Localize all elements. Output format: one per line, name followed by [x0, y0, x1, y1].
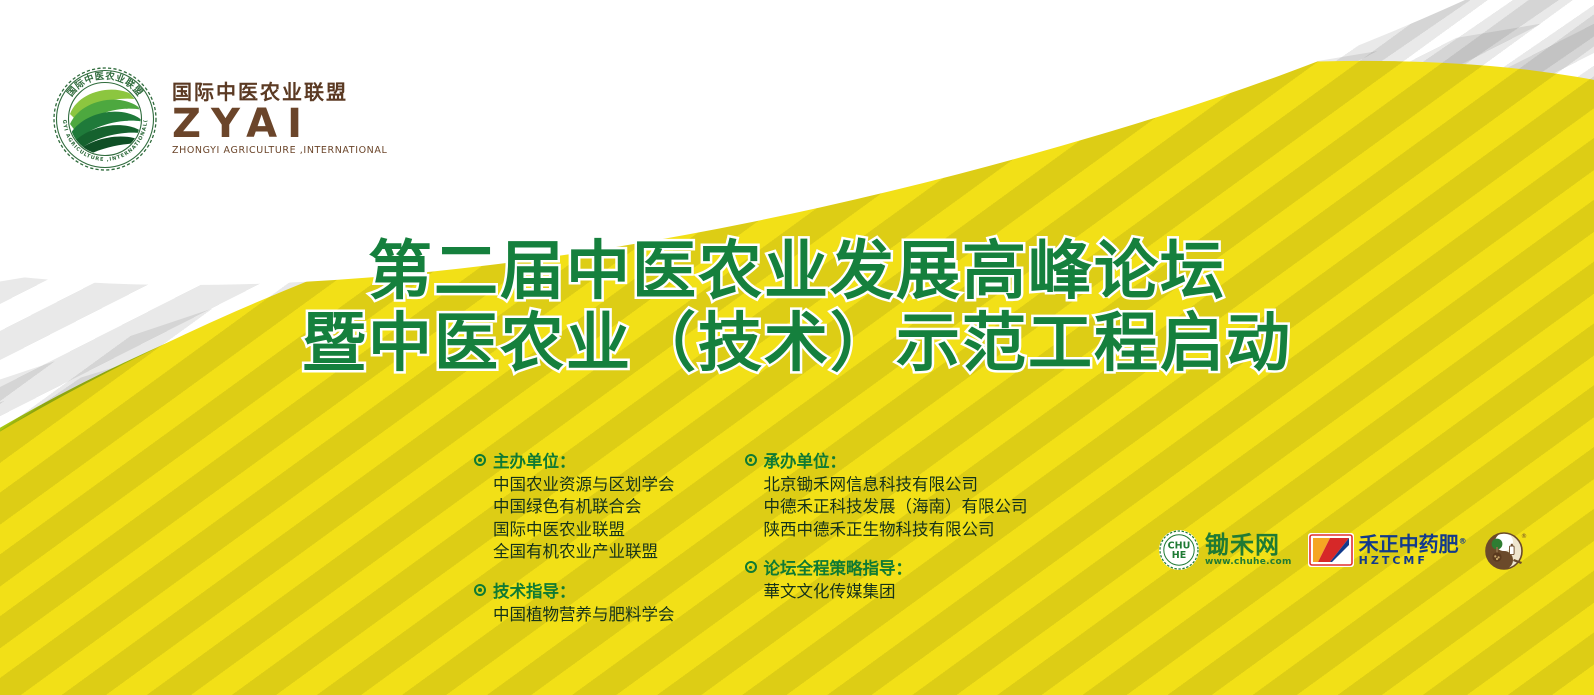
- zyai-wordmark: 国际中医农业联盟 ZYAI ZHONGYI AGRICULTURE ,INTER…: [172, 82, 387, 156]
- organizer-heading-coorganizer-label: 承办单位：: [764, 448, 847, 472]
- chuhe-name-cn: 锄禾网: [1205, 533, 1292, 557]
- bullet-icon: [474, 584, 486, 596]
- hzt-wordmark: 禾正中药肥® HZTCMF: [1359, 534, 1467, 566]
- bullet-icon: [745, 561, 757, 573]
- list-item: 中国绿色有机联合会: [493, 496, 675, 518]
- chuhe-seal-icon: CHU HE: [1158, 529, 1200, 571]
- registered-mark-icon: ®: [1459, 536, 1467, 545]
- organizer-block: 主办单位： 中国农业资源与区划学会 中国绿色有机联合会 国际中医农业联盟 全国有…: [474, 448, 1028, 640]
- sponsor-logo-hzt: 禾正中药肥® HZTCMF: [1308, 533, 1467, 567]
- sponsor-logo-tree-emblem: ® ®: [1483, 528, 1527, 572]
- zyai-seal-ring-bottom-text: ZHONGYI AGRICULTURE ,INTERNATIONAL(ZYAI): [158, 66, 159, 67]
- hzt-name-en: HZTCMF: [1359, 555, 1467, 566]
- organizer-heading-technical-label: 技术指导：: [493, 578, 576, 602]
- list-item: 中国植物营养与肥料学会: [493, 604, 675, 626]
- sponsor-logo-row: CHU HE 锄禾网 www.chuhe.com 禾: [1158, 528, 1527, 572]
- organizer-group-strategy: 论坛全程策略指导： 華文文化传媒集团: [745, 555, 1028, 603]
- organizer-heading-host: 主办单位：: [474, 448, 675, 472]
- organizer-heading-coorganizer: 承办单位：: [745, 448, 1028, 472]
- sponsor-logo-chuhe: CHU HE 锄禾网 www.chuhe.com: [1158, 529, 1292, 571]
- organizer-heading-host-label: 主办单位：: [493, 448, 576, 472]
- organizer-group-host: 主办单位： 中国农业资源与区划学会 中国绿色有机联合会 国际中医农业联盟 全国有…: [474, 448, 675, 564]
- hzt-name-cn: 禾正中药肥®: [1359, 534, 1467, 554]
- svg-text:HE: HE: [1172, 550, 1186, 561]
- svg-text:®: ®: [1521, 533, 1527, 540]
- zyai-seal-ring-top-text: 国际中医农业联盟: [158, 66, 159, 67]
- list-item: 国际中医农业联盟: [493, 519, 675, 541]
- organizer-group-coorganizer: 承办单位： 北京锄禾网信息科技有限公司 中德禾正科技发展（海南）有限公司 陕西中…: [745, 448, 1028, 541]
- list-item: 陕西中德禾正生物科技有限公司: [764, 519, 1028, 541]
- zyai-acronym: ZYAI: [172, 104, 387, 144]
- organizer-group-technical: 技术指导： 中国植物营养与肥料学会: [474, 578, 675, 626]
- hzt-mark-icon: [1308, 533, 1354, 567]
- bullet-icon: [474, 454, 486, 466]
- list-item: 北京锄禾网信息科技有限公司: [764, 474, 1028, 496]
- organizer-column-left: 主办单位： 中国农业资源与区划学会 中国绿色有机联合会 国际中医农业联盟 全国有…: [474, 448, 675, 640]
- bullet-icon: [745, 454, 757, 466]
- hzt-name-cn-label: 禾正中药肥: [1359, 532, 1459, 556]
- zyai-org-name-en: ZHONGYI AGRICULTURE ,INTERNATIONAL: [172, 146, 387, 156]
- list-item: 全国有机农业产业联盟: [493, 541, 675, 563]
- zyai-org-name-cn: 国际中医农业联盟: [172, 82, 387, 102]
- organizer-heading-strategy-label: 论坛全程策略指导：: [764, 555, 913, 579]
- list-item: 中德禾正科技发展（海南）有限公司: [764, 496, 1028, 518]
- poster-canvas: 国际中医农业联盟 ZHONGYI AGRICULTURE ,INTERNATIO…: [0, 0, 1594, 695]
- list-item: 華文文化传媒集团: [764, 581, 1028, 603]
- chuhe-wordmark: 锄禾网 www.chuhe.com: [1205, 533, 1292, 567]
- chuhe-url: www.chuhe.com: [1205, 558, 1292, 567]
- organizer-heading-technical: 技术指导：: [474, 578, 675, 602]
- zyai-logo: 国际中医农业联盟 ZHONGYI AGRICULTURE ,INTERNATIO…: [52, 66, 387, 172]
- organizer-heading-strategy: 论坛全程策略指导：: [745, 555, 1028, 579]
- list-item: 中国农业资源与区划学会: [493, 474, 675, 496]
- organizer-column-right: 承办单位： 北京锄禾网信息科技有限公司 中德禾正科技发展（海南）有限公司 陕西中…: [745, 448, 1028, 618]
- zyai-seal-icon: 国际中医农业联盟 ZHONGYI AGRICULTURE ,INTERNATIO…: [52, 66, 158, 172]
